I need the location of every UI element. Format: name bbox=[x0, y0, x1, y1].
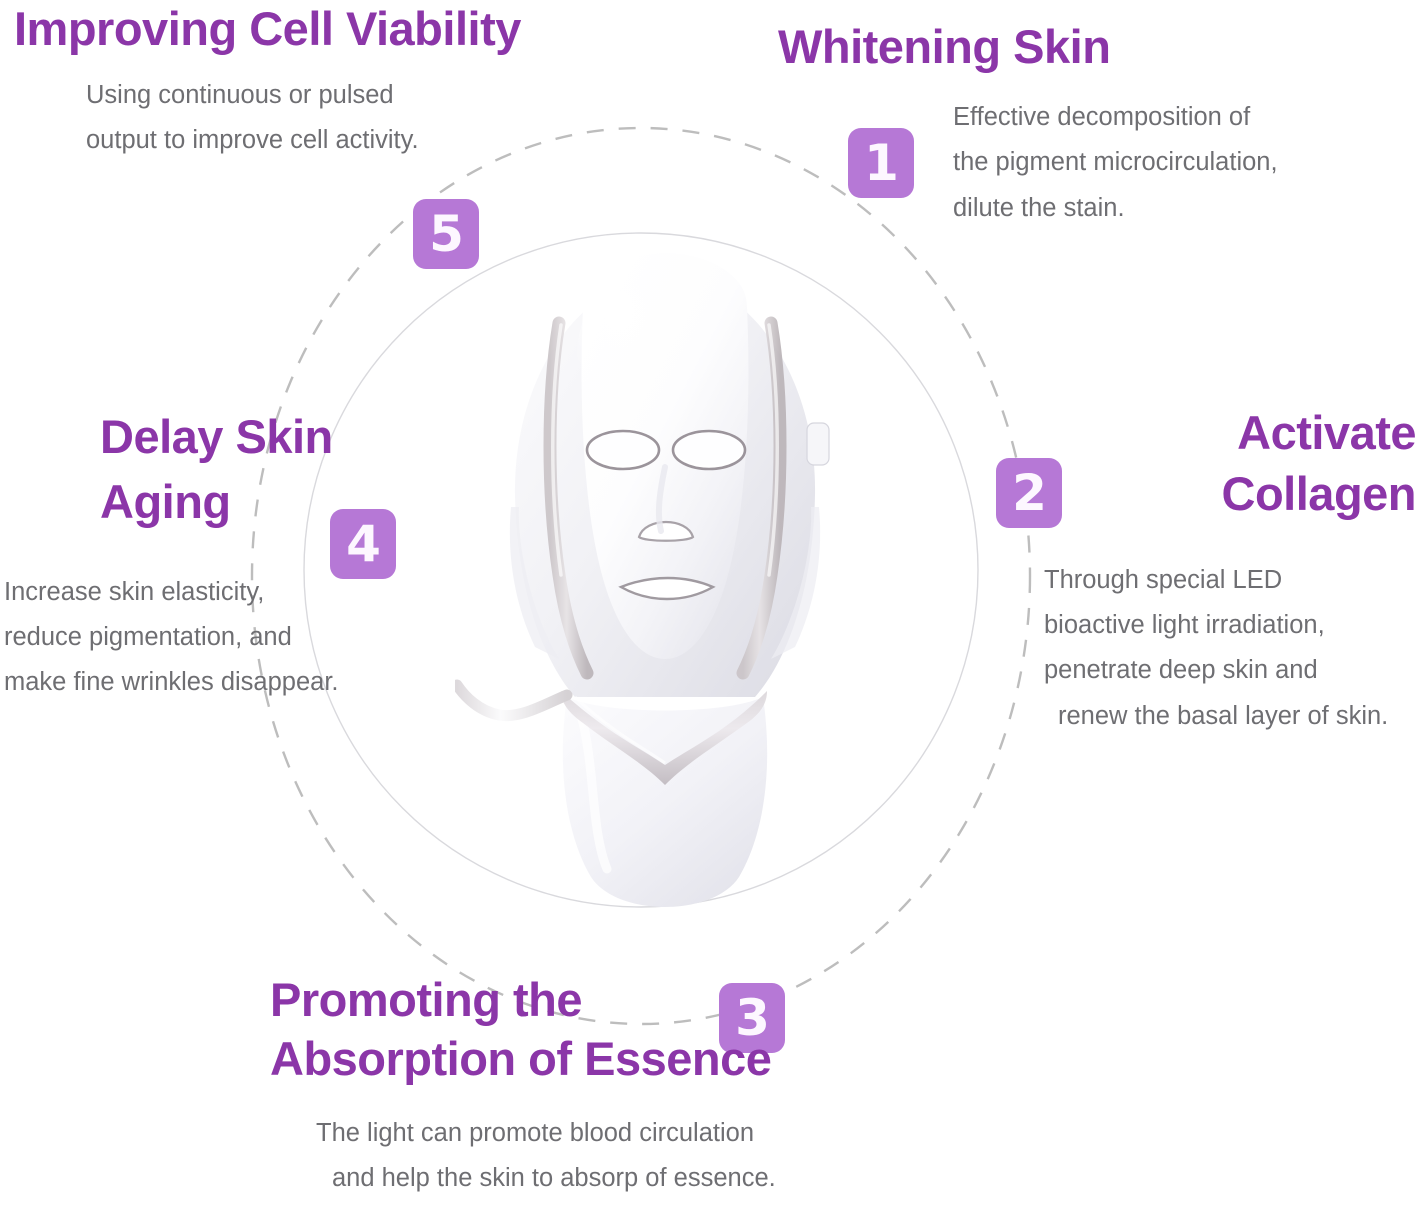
benefit-2-body-line-4: renew the basal layer of skin. bbox=[1044, 694, 1416, 739]
benefit-3-body: The light can promote blood circulation … bbox=[270, 1111, 1150, 1202]
benefit-2-body: Through special LED bioactive light irra… bbox=[1036, 558, 1416, 740]
benefit-3-heading-line-1: Promoting the bbox=[270, 973, 582, 1026]
benefit-5-body-line-2: output to improve cell activity. bbox=[86, 126, 419, 154]
benefit-1-body: Effective decomposition of the pigment m… bbox=[778, 95, 1278, 231]
benefit-2-body-line-1: Through special LED bbox=[1044, 558, 1416, 603]
benefit-2-heading-line-2: Collagen bbox=[1036, 469, 1416, 520]
benefit-4-body: Increase skin elasticity, reduce pigment… bbox=[0, 570, 430, 706]
benefit-3-heading: Promoting the Absorption of Essence bbox=[270, 975, 1150, 1085]
benefit-4-body-line-1: Increase skin elasticity, bbox=[4, 578, 264, 606]
benefit-2-heading: Activate Collagen bbox=[1036, 408, 1416, 520]
benefit-3-body-line-1: The light can promote blood circulation bbox=[316, 1111, 1150, 1156]
benefit-4-heading-line-1: Delay Skin bbox=[100, 410, 333, 463]
benefit-5-body-line-1: Using continuous or pulsed bbox=[86, 81, 394, 109]
benefit-1-body-line-2: the pigment microcirculation, bbox=[953, 148, 1278, 176]
infographic-canvas: 1 2 3 4 5 Improving Cell Viability Using… bbox=[0, 0, 1420, 1227]
benefit-2-heading-line-1: Activate bbox=[1237, 406, 1416, 459]
mask-side-button bbox=[807, 423, 829, 465]
benefit-block-5: Improving Cell Viability Using continuou… bbox=[14, 4, 521, 164]
benefit-4-heading: Delay Skin Aging bbox=[0, 412, 430, 528]
benefit-5-body: Using continuous or pulsed output to imp… bbox=[14, 73, 521, 164]
benefit-4-heading-line-2: Aging bbox=[100, 477, 430, 528]
benefit-block-3: Promoting the Absorption of Essence The … bbox=[270, 975, 1150, 1201]
benefit-1-body-line-1: Effective decomposition of bbox=[953, 103, 1250, 131]
power-cable bbox=[457, 685, 567, 716]
benefit-3-heading-line-2: Absorption of Essence bbox=[270, 1034, 1150, 1085]
benefit-3-body-line-2: and help the skin to absorp of essence. bbox=[316, 1156, 1150, 1201]
benefit-2-body-line-3: penetrate deep skin and bbox=[1044, 648, 1416, 693]
benefit-3-heading-line-1-wrap: Promoting the bbox=[270, 975, 1150, 1026]
benefit-4-body-line-3: make fine wrinkles disappear. bbox=[4, 668, 339, 696]
benefit-badge-5[interactable]: 5 bbox=[413, 199, 479, 269]
benefit-1-heading: Whitening Skin bbox=[778, 22, 1278, 73]
benefit-block-4: Delay Skin Aging Increase skin elasticit… bbox=[0, 412, 430, 706]
led-mask-product-image bbox=[455, 245, 875, 925]
benefit-2-body-line-2: bioactive light irradiation, bbox=[1044, 603, 1416, 648]
benefit-4-body-line-2: reduce pigmentation, and bbox=[4, 623, 292, 651]
benefit-block-2: Activate Collagen Through special LED bi… bbox=[1036, 408, 1416, 739]
benefit-5-heading: Improving Cell Viability bbox=[14, 4, 521, 55]
benefit-block-1: Whitening Skin Effective decomposition o… bbox=[778, 22, 1278, 231]
benefit-1-body-line-3: dilute the stain. bbox=[953, 194, 1125, 222]
